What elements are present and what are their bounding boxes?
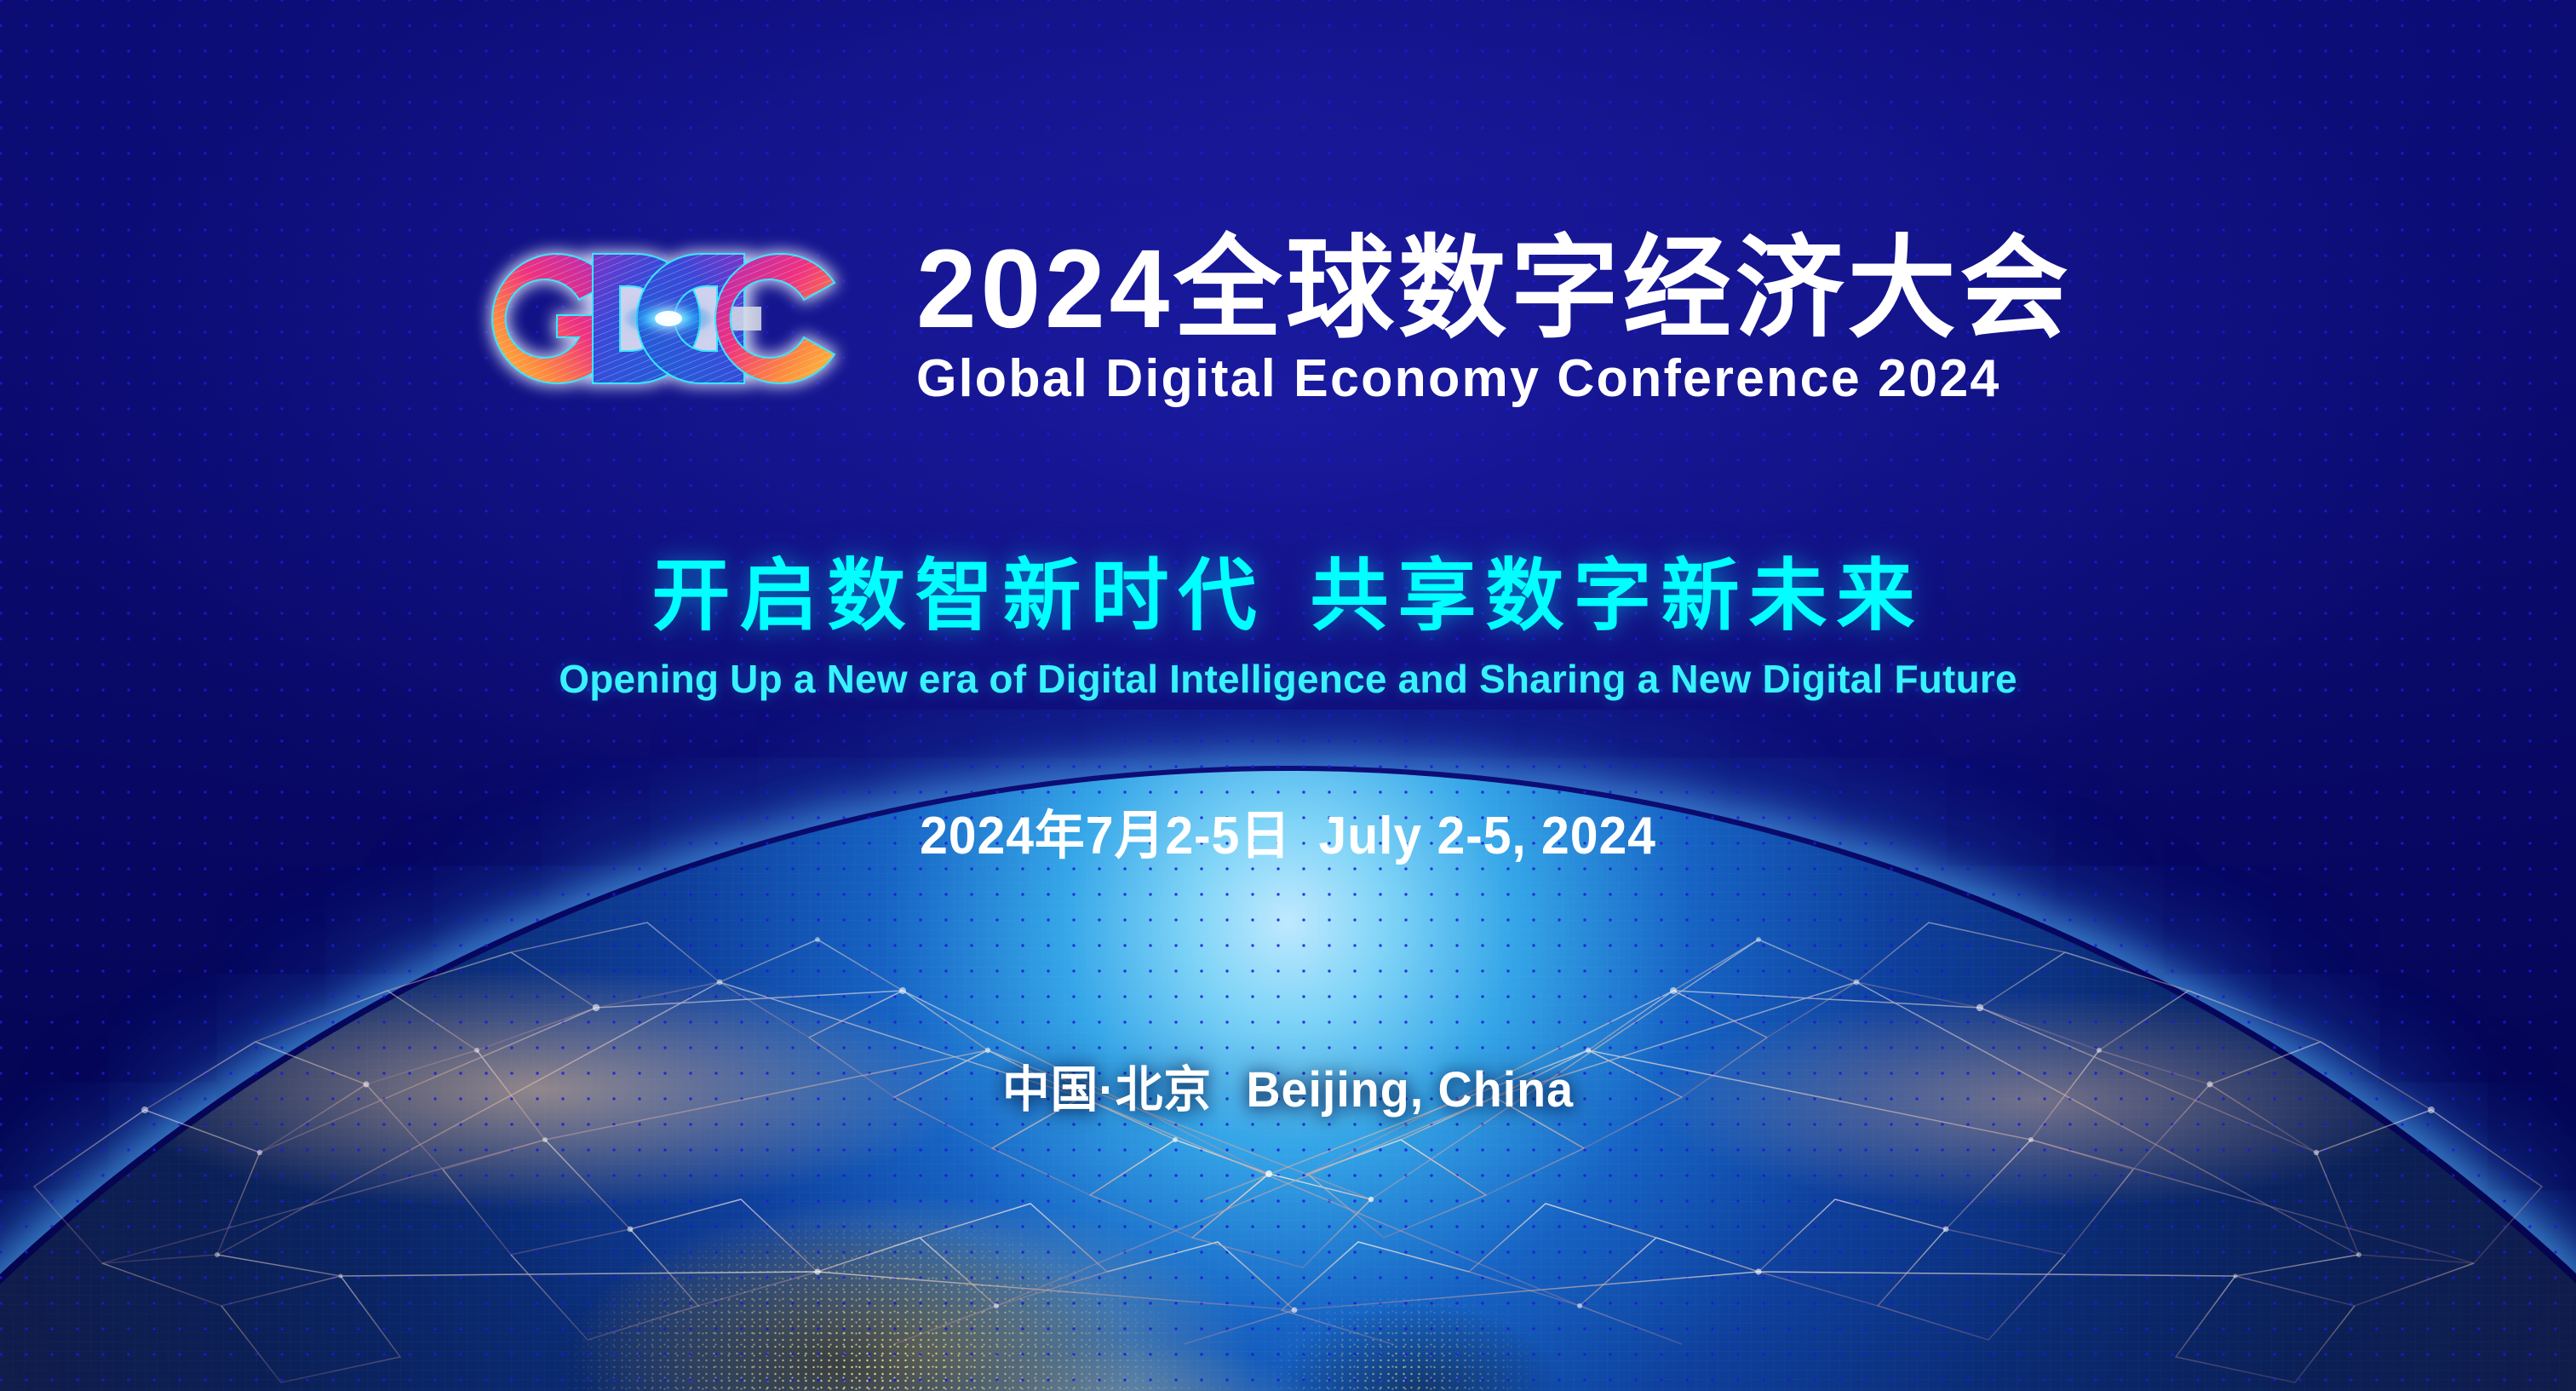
- page-title-en: Global Digital Economy Conference 2024: [916, 350, 2001, 408]
- gdec-logo-mark: [468, 233, 869, 404]
- event-date-en: July 2-5, 2024: [1318, 807, 1655, 865]
- title-block: 2024全球数字经济大会 Global Digital Economy Conf…: [916, 228, 2108, 409]
- slogan-en: Opening Up a New era of Digital Intellig…: [0, 656, 2576, 702]
- event-location: 中国·北京Beijing, China: [52, 1049, 2525, 1121]
- slogan-cn-part1: 开启数智新时代: [651, 553, 1265, 640]
- event-date: 2024年7月2-5日July 2-5, 2024: [65, 792, 2512, 869]
- slogan-cn-part2: 共享数字新未来: [1311, 553, 1925, 640]
- event-location-en: Beijing, China: [1246, 1062, 1574, 1118]
- poster-header: 2024全球数字经济大会 Global Digital Economy Conf…: [0, 228, 2576, 409]
- logo-core-glow: [622, 302, 714, 336]
- slogan-cn: 开启数智新时代共享数字新未来: [0, 532, 2576, 646]
- conference-poster: 2024全球数字经济大会 Global Digital Economy Conf…: [0, 0, 2576, 1391]
- page-title-cn: 2024全球数字经济大会: [916, 228, 2072, 348]
- event-date-cn: 2024年7月2-5日: [920, 807, 1291, 865]
- gdec-logo: [468, 233, 869, 404]
- event-location-cn: 中国·北京: [1002, 1062, 1212, 1118]
